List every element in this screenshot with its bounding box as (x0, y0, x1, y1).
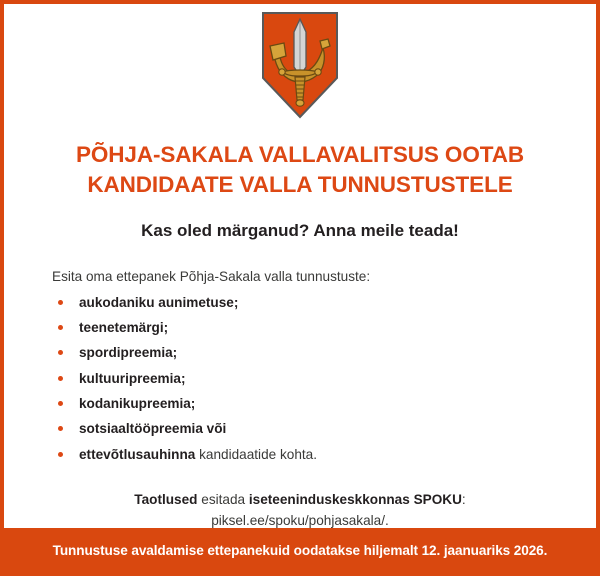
bullet-dot-icon (58, 426, 63, 431)
crest-container (4, 4, 596, 120)
award-categories-list: aukodaniku aunimetuse; teenetemärgi; spo… (52, 294, 566, 464)
announcement-poster: PÕHJA-SAKALA VALLAVALITSUS OOTAB KANDIDA… (0, 0, 600, 576)
apply-mid-text: esitada (197, 492, 248, 507)
body-content: Esita oma ettepanek Põhja-Sakala valla t… (4, 268, 596, 470)
list-item: sotsiaaltööpreemia või (52, 420, 566, 438)
page-title: PÕHJA-SAKALA VALLAVALITSUS OOTAB KANDIDA… (4, 140, 596, 199)
headline-line-1: PÕHJA-SAKALA VALLAVALITSUS OOTAB (76, 142, 524, 167)
intro-text: Esita oma ettepanek Põhja-Sakala valla t… (52, 268, 566, 286)
list-item: ettevõtlusauhinna kandidaatide kohta. (52, 446, 566, 464)
list-item: spordipreemia; (52, 344, 566, 362)
list-item: kultuuripreemia; (52, 370, 566, 388)
list-item: teenetemärgi; (52, 319, 566, 337)
award-name: kultuuripreemia; (79, 371, 186, 386)
subtitle: Kas oled märganud? Anna meile teada! (4, 221, 596, 241)
deadline-banner: Tunnustuse avaldamise ettepanekuid oodat… (4, 528, 596, 572)
apply-portal-name: iseteeninduskeskkonnas SPOKU (249, 492, 462, 507)
apply-label: Taotlused (134, 492, 197, 507)
pohja-sakala-coat-of-arms-icon (260, 10, 340, 120)
award-name: kodanikupreemia; (79, 396, 195, 411)
bullet-dot-icon (58, 325, 63, 330)
apply-colon: : (462, 492, 466, 507)
bullet-dot-icon (58, 452, 63, 457)
deadline-text: Tunnustuse avaldamise ettepanekuid oodat… (53, 543, 548, 558)
bullet-dot-icon (58, 350, 63, 355)
bullet-dot-icon (58, 300, 63, 305)
list-item: aukodaniku aunimetuse; (52, 294, 566, 312)
list-item: kodanikupreemia; (52, 395, 566, 413)
award-suffix: kandidaatide kohta. (195, 447, 317, 462)
bullet-dot-icon (58, 376, 63, 381)
apply-line-1: Taotlused esitada iseteeninduskeskkonnas… (44, 490, 556, 510)
apply-instructions: Taotlused esitada iseteeninduskeskkonnas… (4, 490, 596, 532)
bullet-dot-icon (58, 401, 63, 406)
award-name: aukodaniku aunimetuse; (79, 295, 238, 310)
award-name: ettevõtlusauhinna (79, 447, 195, 462)
award-name: spordipreemia; (79, 345, 177, 360)
award-name: sotsiaaltööpreemia või (79, 421, 226, 436)
award-name: teenetemärgi; (79, 320, 168, 335)
headline-line-2: KANDIDAATE VALLA TUNNUSTUSTELE (28, 170, 572, 200)
